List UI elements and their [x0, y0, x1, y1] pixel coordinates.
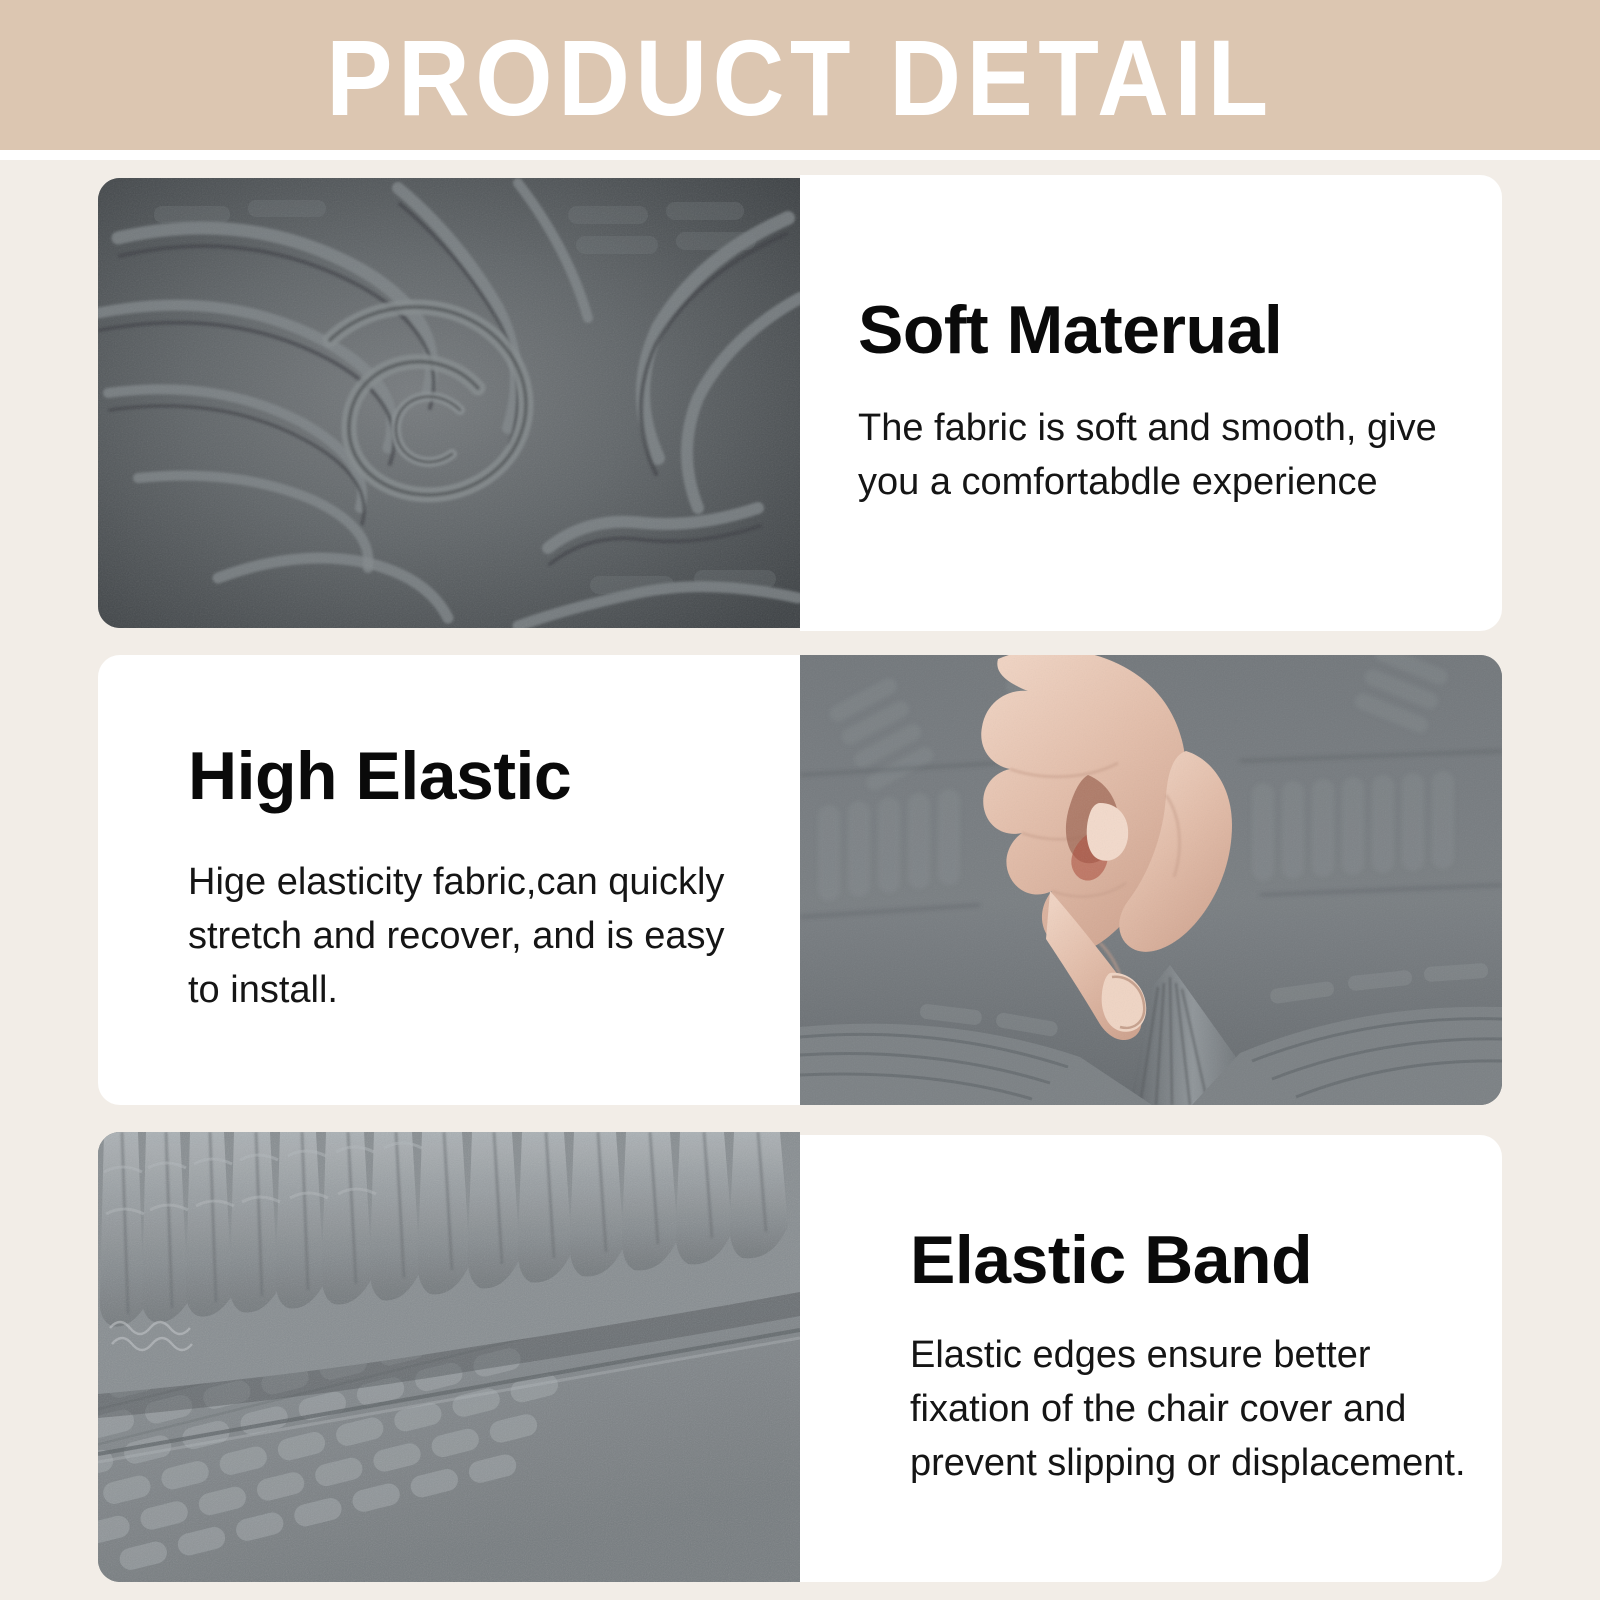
swirled-fabric-illustration	[98, 178, 800, 628]
high-elastic-fabric-photo	[800, 655, 1502, 1105]
high-elastic-text-card: High Elastic Hige elasticity fabric,can …	[98, 655, 800, 1105]
header-divider	[0, 150, 1600, 160]
feature-row-high-elastic: High Elastic Hige elasticity fabric,can …	[0, 655, 1600, 1105]
soft-material-description: The fabric is soft and smooth, give you …	[858, 402, 1462, 510]
product-detail-header-banner: PRODUCT DETAIL	[0, 0, 1600, 150]
elastic-band-text-card: Elastic Band Elastic edges ensure better…	[800, 1135, 1502, 1582]
elastic-band-description: Elastic edges ensure better fixation of …	[910, 1329, 1466, 1491]
elastic-band-title: Elastic Band	[910, 1226, 1466, 1295]
high-elastic-description: Hige elasticity fabric,can quickly stret…	[188, 856, 760, 1018]
page-title: PRODUCT DETAIL	[326, 18, 1274, 132]
soft-material-fabric-photo	[98, 178, 800, 628]
soft-material-title: Soft Materual	[858, 296, 1462, 365]
high-elastic-title: High Elastic	[188, 742, 760, 811]
elastic-band-fabric-photo	[98, 1132, 800, 1582]
ruffled-elastic-edge-illustration	[98, 1132, 800, 1582]
feature-row-elastic-band: Elastic Band Elastic edges ensure better…	[0, 1132, 1600, 1582]
feature-row-soft-material: Soft Materual The fabric is soft and smo…	[0, 160, 1600, 628]
soft-material-text-card: Soft Materual The fabric is soft and smo…	[800, 175, 1502, 631]
hand-pinching-fabric-illustration	[800, 655, 1502, 1105]
